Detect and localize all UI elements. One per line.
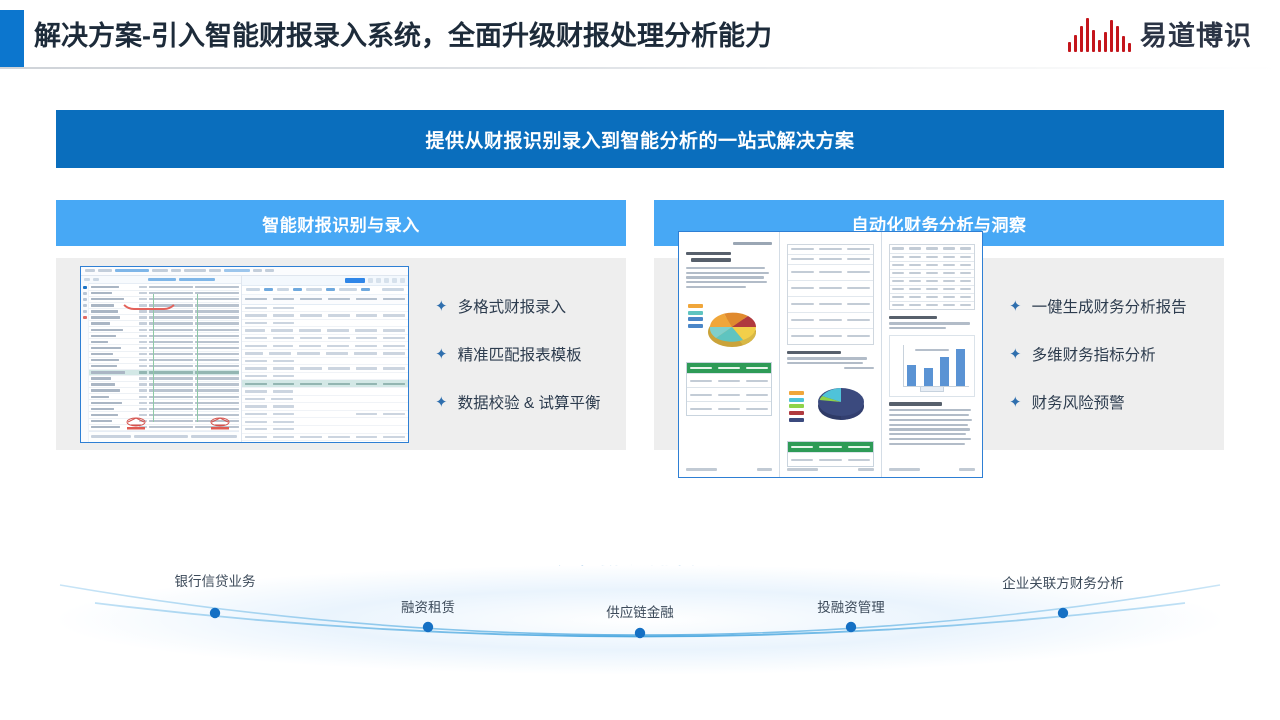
- table-row[interactable]: [242, 434, 408, 442]
- table-row[interactable]: [242, 396, 408, 404]
- red-seal-icon: [123, 416, 149, 430]
- list-item: ✦ 多格式财报录入: [435, 295, 601, 317]
- list-item: ✦ 多维财务指标分析: [1009, 343, 1187, 365]
- slide: 解决方案-引入智能财报录入系统，全面升级财报处理分析能力 易道博识 提供从财报识…: [0, 0, 1280, 720]
- app-workspace: [81, 276, 408, 442]
- table-row-highlighted[interactable]: [242, 380, 408, 388]
- pie-chart-asset-structure: [686, 296, 772, 356]
- table-row[interactable]: [242, 312, 408, 320]
- header-divider: [0, 67, 1280, 69]
- report-page-3: [882, 232, 982, 477]
- column-title-recognition: 智能财报识别与录入: [56, 200, 626, 246]
- table-row[interactable]: [242, 358, 408, 366]
- list-item: ✦ 数据校验 & 试算平衡: [435, 391, 601, 413]
- handwritten-mark: [119, 295, 179, 310]
- logo-waveform-icon: [1068, 16, 1132, 52]
- screenshot-analysis-report[interactable]: [678, 231, 983, 478]
- table-row[interactable]: [242, 365, 408, 373]
- brand-logo: 易道博识: [1068, 14, 1253, 53]
- diamond-bullet-icon: ✦: [435, 395, 448, 410]
- list-item: ✦ 一健生成财务分析报告: [1009, 295, 1187, 317]
- table-row[interactable]: [242, 342, 408, 350]
- table-header-row: [242, 295, 408, 305]
- header-accent-bar: [0, 10, 24, 67]
- column-recognition: 智能财报识别与录入: [56, 200, 626, 450]
- scenario-label-4: 企业关联方财务分析: [1002, 572, 1124, 592]
- diamond-bullet-icon: ✦: [435, 347, 448, 362]
- bar-chart-current-asset-trend: [889, 335, 975, 397]
- diamond-bullet-icon: ✦: [1009, 347, 1022, 362]
- diamond-bullet-icon: ✦: [1009, 395, 1022, 410]
- screenshot-entry-system[interactable]: [80, 266, 409, 443]
- scenario-label-3: 投融资管理: [817, 596, 885, 616]
- preview-statusbar: [89, 431, 239, 442]
- primary-action-button[interactable]: [345, 278, 365, 283]
- diamond-bullet-icon: ✦: [1009, 299, 1022, 314]
- app-menubar: [81, 267, 408, 276]
- column-body-analysis: ✦ 一健生成财务分析报告 ✦ 多维财务指标分析 ✦ 财务风险预警: [654, 258, 1224, 450]
- table-row[interactable]: [242, 403, 408, 411]
- report-page-1: [679, 232, 780, 477]
- report-table-2: [787, 244, 873, 345]
- pie-legend-2: [789, 391, 804, 421]
- page-title: 解决方案-引入智能财报录入系统，全面升级财报处理分析能力: [34, 14, 772, 53]
- diamond-bullet-icon: ✦: [435, 299, 448, 314]
- list-item: ✦ 财务风险预警: [1009, 391, 1187, 413]
- table-row[interactable]: [242, 411, 408, 419]
- scenario-label-1: 融资租赁: [401, 596, 455, 616]
- table-row[interactable]: [242, 388, 408, 396]
- document-preview-pane: [81, 276, 242, 442]
- column-body-recognition: ✦ 多格式财报录入 ✦ 精准匹配报表模板 ✦ 数据校验 & 试算平衡: [56, 258, 626, 450]
- table-row[interactable]: [242, 350, 408, 358]
- column-analysis: 自动化财务分析与洞察: [654, 200, 1224, 450]
- pie-legend: [688, 304, 703, 328]
- scenario-label-0: 银行信贷业务: [175, 570, 256, 590]
- table-row[interactable]: [242, 320, 408, 328]
- feature-list-recognition: ✦ 多格式财报录入 ✦ 精准匹配报表模板 ✦ 数据校验 & 试算平衡: [435, 295, 601, 413]
- pie-chart-current-assets: [787, 377, 873, 431]
- preview-sidebar-rail[interactable]: [81, 283, 89, 442]
- balance-sheet-table: [89, 285, 239, 432]
- report-page-2: [780, 232, 881, 477]
- table-row[interactable]: [242, 373, 408, 381]
- table-row[interactable]: [242, 418, 408, 426]
- feature-list-analysis: ✦ 一健生成财务分析报告 ✦ 多维财务指标分析 ✦ 财务风险预警: [1009, 295, 1187, 413]
- slide-header: 解决方案-引入智能财报录入系统，全面升级财报处理分析能力 易道博识: [0, 0, 1280, 68]
- report-table-3: [787, 441, 873, 467]
- table-filter-toolbar[interactable]: [242, 286, 408, 295]
- table-row[interactable]: [242, 327, 408, 335]
- table-row[interactable]: [242, 426, 408, 434]
- table-row[interactable]: [242, 335, 408, 343]
- report-table-4: [889, 244, 975, 310]
- report-table-1: [686, 362, 772, 416]
- logo-text: 易道博识: [1140, 14, 1252, 53]
- scenario-section: 深度赋能金融业务场景 银: [0, 545, 1280, 720]
- table-row[interactable]: [242, 305, 408, 313]
- table-action-toolbar[interactable]: [242, 276, 408, 286]
- scenario-label-2: 供应链金融: [606, 601, 674, 621]
- data-table-pane: [242, 276, 408, 442]
- list-item: ✦ 精准匹配报表模板: [435, 343, 601, 365]
- solution-banner: 提供从财报识别录入到智能分析的一站式解决方案: [56, 110, 1224, 168]
- red-seal-icon-2: [207, 416, 233, 430]
- preview-toolbar: [81, 276, 241, 284]
- table-row[interactable]: [242, 441, 408, 442]
